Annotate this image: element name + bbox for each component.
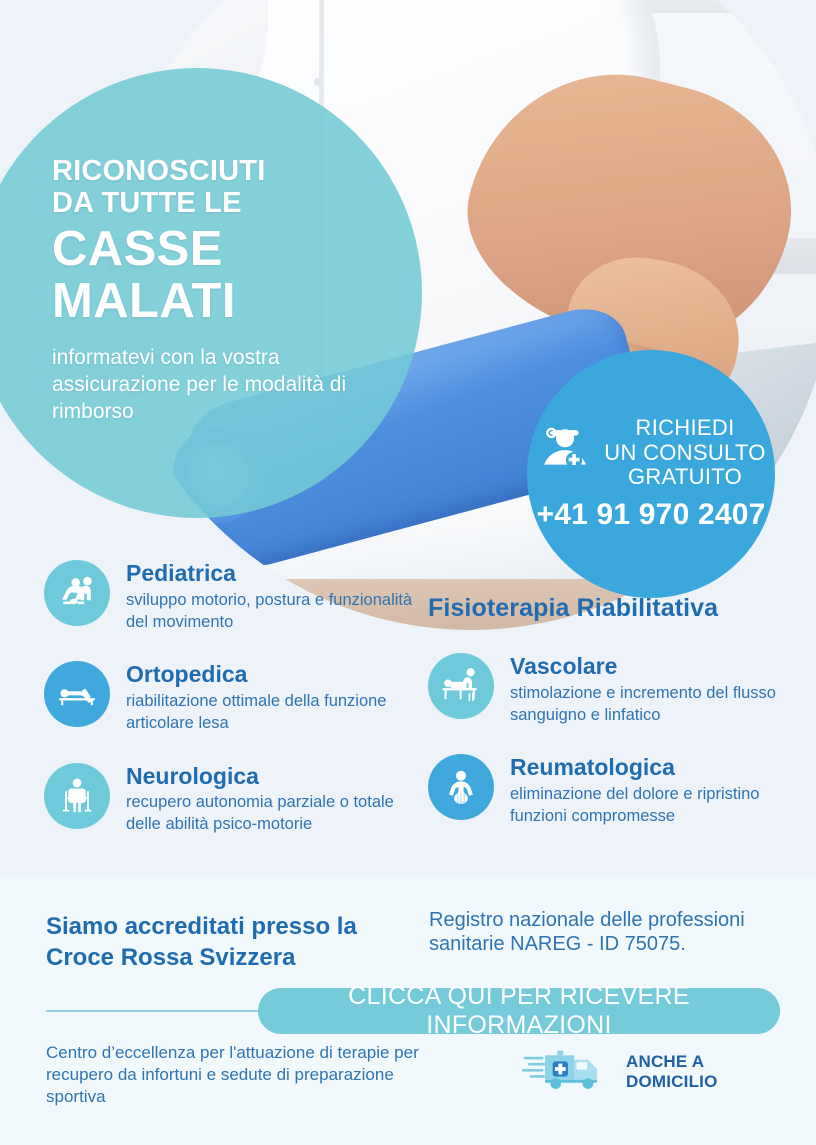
vascular-massage-table-icon (428, 653, 494, 719)
hero-subtitle: informatevi con la vostra assicurazione … (52, 344, 382, 426)
service-title: Pediatrica (126, 560, 236, 586)
service-desc: eliminazione del dolore e ripristino fun… (510, 784, 800, 828)
free-consultation-badge[interactable]: RICHIEDI UN CONSULTO GRATUITO +41 91 970… (527, 350, 775, 598)
service-item-reumatologica[interactable]: Reumatologica eliminazione del dolore e … (428, 754, 800, 827)
home-badge-line-1: ANCHE A (626, 1052, 718, 1072)
service-text: Reumatologica eliminazione del dolore e … (510, 754, 800, 827)
services-left-column: Pediatrica sviluppo motorio, postura e f… (44, 560, 414, 864)
request-info-button[interactable]: CLICCA QUI PER RICEVERE INFORMAZIONI (258, 988, 780, 1034)
service-desc: riabilitazione ottimale della funzione a… (126, 691, 414, 735)
phone-number[interactable]: +41 91 970 2407 (536, 498, 765, 532)
ambulance-icon (522, 1046, 614, 1097)
doctor-icon (536, 422, 594, 485)
accreditation-text: Siamo accreditati presso la Croce Rossa … (46, 911, 386, 973)
consultation-row: RICHIEDI UN CONSULTO GRATUITO (536, 416, 765, 490)
home-badge-line-2: DOMICILIO (626, 1072, 718, 1092)
service-desc: recupero autonomia parziale o totale del… (126, 792, 414, 836)
services-right-column: Fisioterapia Riabilitativa (428, 594, 800, 856)
service-title: Reumatologica (510, 754, 675, 780)
hero-line-3: CASSE (52, 224, 382, 276)
neurologic-walker-icon (44, 763, 110, 829)
consultation-line-2: UN CONSULTO (604, 441, 765, 466)
service-title: Ortopedica (126, 661, 247, 687)
consultation-lines: RICHIEDI UN CONSULTO GRATUITO (604, 416, 765, 490)
home-badge-label: ANCHE A DOMICILIO (626, 1052, 718, 1091)
hero-line-1: RICONOSCIUTI (52, 155, 382, 187)
service-text: Neurologica recupero autonomia parziale … (126, 763, 414, 836)
service-desc: sviluppo motorio, postura e funzionalità… (126, 590, 414, 634)
service-title: Neurologica (126, 763, 259, 789)
poster-root: RICONOSCIUTI DA TUTTE LE CASSE MALATI in… (0, 0, 816, 1145)
service-desc: stimolazione e incremento del flusso san… (510, 683, 800, 727)
service-item-vascolare[interactable]: Vascolare stimolazione e incremento del … (428, 653, 800, 726)
service-text: Vascolare stimolazione e incremento del … (510, 653, 800, 726)
consultation-line-1: RICHIEDI (604, 416, 765, 441)
hero-line-2: DA TUTTE LE (52, 187, 382, 219)
excellence-note: Centro d’eccellenza per l'attuazione di … (46, 1042, 426, 1108)
hero-copy: RICONOSCIUTI DA TUTTE LE CASSE MALATI in… (52, 155, 382, 426)
orthopedic-patient-on-table-icon (44, 661, 110, 727)
service-text: Ortopedica riabilitazione ottimale della… (126, 661, 414, 734)
service-text: Pediatrica sviluppo motorio, postura e f… (126, 560, 414, 633)
registry-text: Registro nazionale delle professioni san… (429, 908, 789, 957)
rheumatology-person-icon (428, 754, 494, 820)
hero-line-4: MALATI (52, 276, 382, 328)
service-item-ortopedica[interactable]: Ortopedica riabilitazione ottimale della… (44, 661, 414, 734)
home-service-badge: ANCHE A DOMICILIO (522, 1046, 718, 1097)
consultation-line-3: GRATUITO (604, 465, 765, 490)
service-item-neurologica[interactable]: Neurologica recupero autonomia parziale … (44, 763, 414, 836)
pediatric-crawling-icon (44, 560, 110, 626)
services-right-heading: Fisioterapia Riabilitativa (428, 594, 800, 623)
service-item-pediatrica[interactable]: Pediatrica sviluppo motorio, postura e f… (44, 560, 414, 633)
service-title: Vascolare (510, 653, 617, 679)
